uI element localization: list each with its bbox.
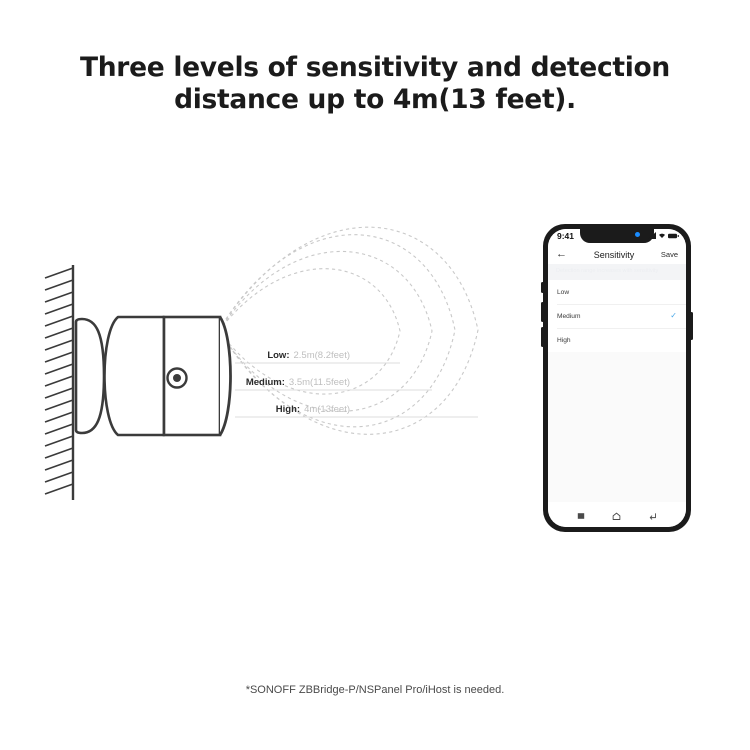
home-icon[interactable]: [612, 512, 621, 521]
range-name-low: Low:: [267, 350, 289, 361]
status-bar: 9:41: [548, 229, 686, 245]
save-button[interactable]: Save: [661, 250, 678, 259]
recents-icon[interactable]: [577, 512, 585, 520]
range-value-medium: 3.5m(11.5feet): [289, 377, 350, 388]
range-label-low: Low:2.5m(8.2feet): [190, 350, 350, 362]
camera-housing: [164, 317, 220, 435]
detection-arcs: [219, 235, 455, 427]
detection-arc-low: [219, 269, 400, 394]
phone-screen: 9:41 ← Sensitivity: [548, 229, 686, 527]
range-name-medium: Medium:: [246, 377, 285, 388]
page-title: Three levels of sensitivity and detectio…: [0, 52, 750, 116]
range-value-low: 2.5m(8.2feet): [294, 350, 351, 361]
battery-icon: [668, 233, 679, 239]
option-label-medium: Medium: [557, 313, 670, 320]
range-name-high: High:: [276, 404, 300, 415]
phone-mockup: 9:41 ← Sensitivity: [543, 224, 691, 532]
camera-body-barrel: [105, 317, 165, 435]
wall-hatching: [45, 268, 73, 494]
detection-arc-high: [219, 235, 455, 427]
signal-icon: [648, 232, 656, 239]
title-line-2: distance up to 4m(13 feet).: [0, 84, 750, 116]
back-arrow-icon[interactable]: ←: [556, 249, 567, 260]
subtitle-text: Detection range increases with sensitivi…: [556, 268, 678, 275]
subtitle-band: Detection range increases with sensitivi…: [548, 264, 686, 280]
app-header: ← Sensitivity Save: [548, 245, 686, 264]
app-title: Sensitivity: [567, 250, 661, 260]
back-icon[interactable]: [648, 512, 657, 521]
option-row-low[interactable]: Low: [548, 280, 686, 304]
check-icon-medium: ✓: [670, 312, 677, 320]
phone-volume-up-button[interactable]: [541, 302, 544, 322]
camera-lens-cap: [220, 317, 231, 435]
phone-notch: [580, 229, 654, 243]
phone-power-button[interactable]: [690, 312, 693, 340]
promo-graphic: Three levels of sensitivity and detectio…: [0, 0, 750, 750]
range-value-high: 4m(13feet): [304, 404, 350, 415]
footnote: *SONOFF ZBBridge-P/NSPanel Pro/iHost is …: [0, 684, 750, 696]
option-row-medium[interactable]: Medium ✓: [548, 304, 686, 328]
wifi-icon: [658, 232, 666, 239]
phone-volume-down-button[interactable]: [541, 327, 544, 347]
sensitivity-option-list: Low Medium ✓ High: [548, 280, 686, 352]
status-icons: [648, 232, 679, 239]
range-label-medium: Medium:3.5m(11.5feet): [190, 377, 350, 389]
list-empty-area: [548, 352, 686, 502]
phone-mute-switch[interactable]: [541, 282, 544, 293]
front-camera-icon: [635, 232, 640, 237]
camera-mount-bracket: [76, 319, 104, 433]
status-time: 9:41: [557, 231, 574, 241]
phone-navigation-bar: [548, 505, 686, 527]
range-label-high: High:4m(13feet): [190, 404, 350, 416]
option-label-high: High: [557, 337, 677, 344]
option-row-high[interactable]: High: [548, 328, 686, 352]
camera-lens-icon: [168, 369, 187, 388]
option-label-low: Low: [557, 289, 677, 296]
title-line-1: Three levels of sensitivity and detectio…: [0, 52, 750, 84]
